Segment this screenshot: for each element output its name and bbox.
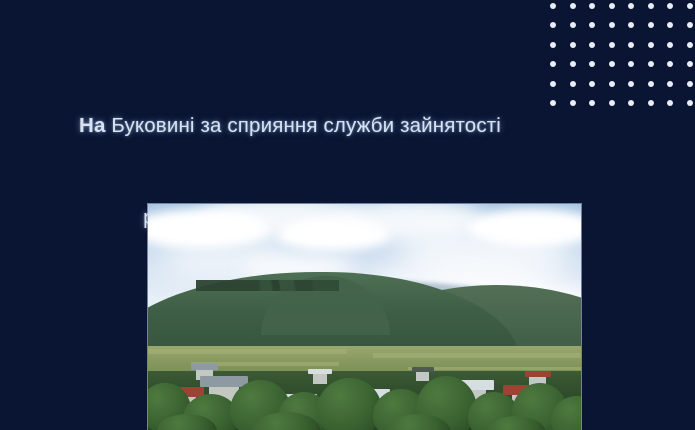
grid-dot xyxy=(628,3,634,9)
grid-dot xyxy=(628,22,634,28)
grid-dot xyxy=(589,3,595,9)
grid-dot xyxy=(687,100,693,106)
house-roof xyxy=(525,371,551,376)
grid-dot xyxy=(687,61,693,67)
grid-dot xyxy=(589,81,595,87)
grid-dot xyxy=(609,100,615,106)
grid-dot xyxy=(628,42,634,48)
grid-dot xyxy=(648,22,654,28)
grid-dot xyxy=(687,81,693,87)
headline-lead-word: На xyxy=(79,114,106,137)
field-strip xyxy=(148,349,347,354)
grid-dot xyxy=(667,42,673,48)
grid-dot xyxy=(609,22,615,28)
village-landscape-photo xyxy=(148,204,581,430)
grid-dot xyxy=(648,100,654,106)
grid-dot xyxy=(550,22,556,28)
crest-treeline xyxy=(196,280,339,291)
grid-dot xyxy=(609,81,615,87)
grid-dot xyxy=(667,100,673,106)
house-roof xyxy=(200,376,248,387)
grid-dot xyxy=(648,42,654,48)
grid-dot xyxy=(648,81,654,87)
grid-dot xyxy=(667,81,673,87)
grid-dot xyxy=(589,61,595,67)
grid-dot xyxy=(687,22,693,28)
grid-dot xyxy=(589,100,595,106)
grid-dot xyxy=(648,3,654,9)
grid-dot xyxy=(550,3,556,9)
grid-dot xyxy=(570,22,576,28)
grid-dot xyxy=(628,81,634,87)
house-wall xyxy=(313,374,328,384)
cloud xyxy=(468,209,581,247)
headline-line-1-rest: Буковині за сприяння служби зайнятості xyxy=(106,114,502,137)
grid-dot xyxy=(609,3,615,9)
house-wall xyxy=(416,371,429,380)
grid-dot xyxy=(550,42,556,48)
photo-frame xyxy=(148,204,581,430)
grid-dot xyxy=(648,61,654,67)
grid-dot xyxy=(628,61,634,67)
house-roof xyxy=(412,367,434,372)
grid-dot xyxy=(667,61,673,67)
house-roof xyxy=(308,369,332,374)
grid-dot xyxy=(589,42,595,48)
house-roof xyxy=(191,364,218,370)
presentation-slide: На Буковині за сприяння служби зайнятост… xyxy=(0,0,695,430)
grid-dot xyxy=(667,3,673,9)
grid-dot xyxy=(628,100,634,106)
headline-line-1: На Буковині за сприяння служби зайнятост… xyxy=(0,111,580,142)
grid-dot xyxy=(609,61,615,67)
grid-dot xyxy=(570,3,576,9)
field-strip xyxy=(408,367,581,371)
grid-dot xyxy=(667,22,673,28)
grid-dot xyxy=(570,42,576,48)
grid-dot xyxy=(589,22,595,28)
grid-dot xyxy=(609,42,615,48)
grid-dot xyxy=(687,3,693,9)
grid-dot xyxy=(687,42,693,48)
field-strip xyxy=(373,353,581,358)
